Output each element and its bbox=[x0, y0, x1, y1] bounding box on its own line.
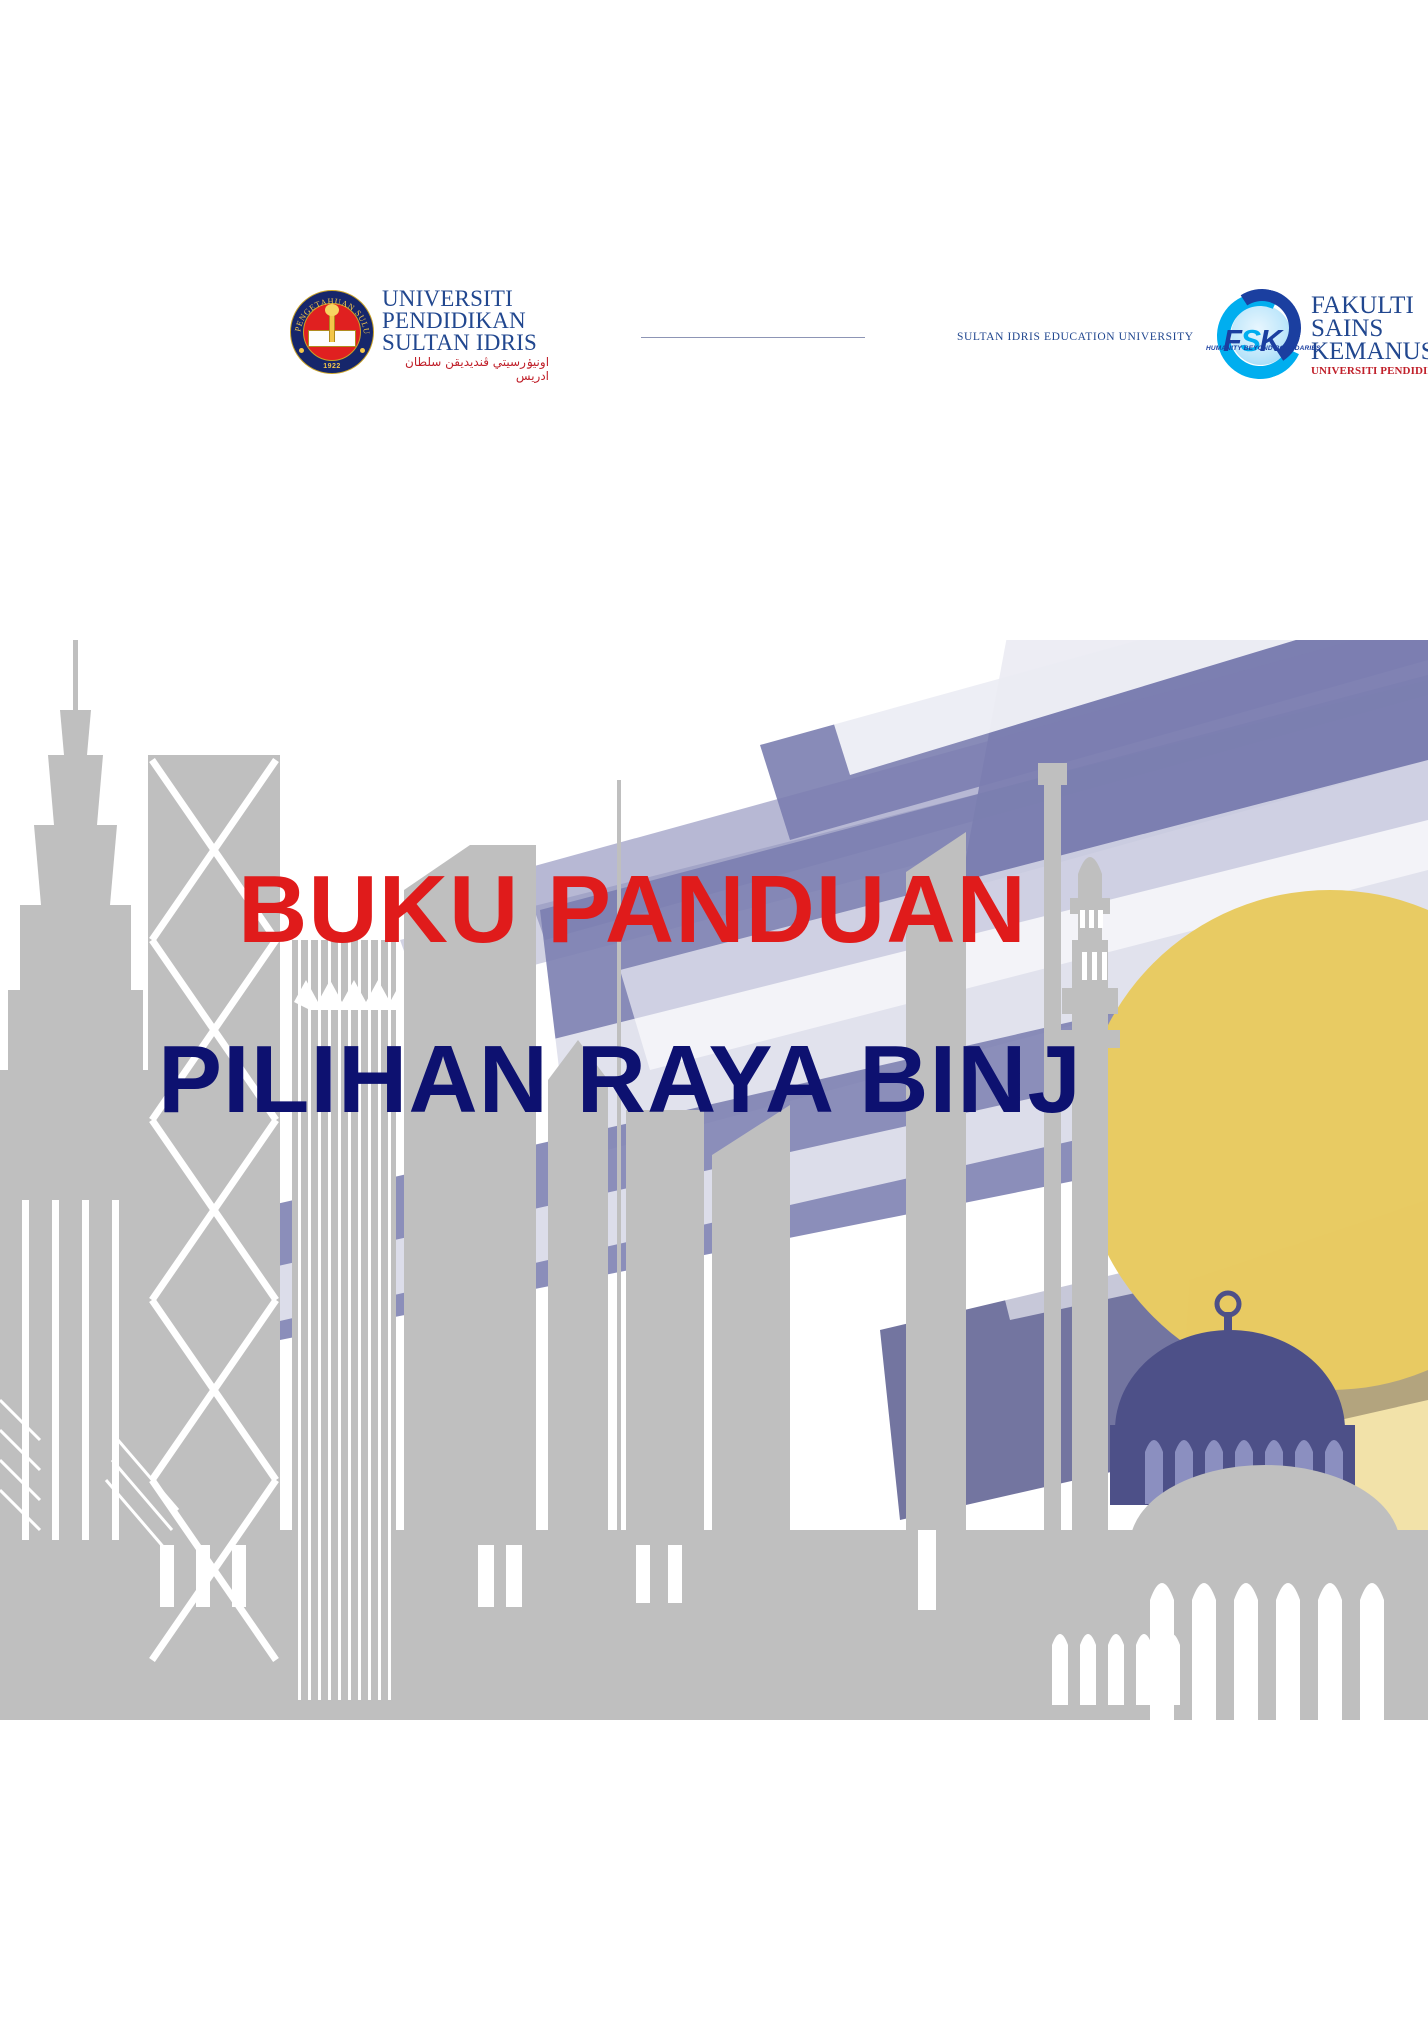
fsk-subtitle: UNIVERSITI PENDIDIKAN SULTAN IDRIS bbox=[1311, 365, 1428, 377]
upsi-logo: PENGETAHUAN SULUH BUDIMAN 1922 UNIVERSIT… bbox=[290, 276, 1193, 396]
fsk-line-1: FAKULTI bbox=[1311, 294, 1428, 317]
upsi-crest-year: 1922 bbox=[290, 363, 374, 370]
svg-text:PENGETAHUAN SULUH BUDIMAN: PENGETAHUAN SULUH BUDIMAN bbox=[290, 290, 371, 335]
upsi-crest-icon: PENGETAHUAN SULUH BUDIMAN 1922 bbox=[290, 290, 374, 374]
logo-bar: PENGETAHUAN SULUH BUDIMAN 1922 UNIVERSIT… bbox=[0, 268, 1428, 403]
cover-page: PENGETAHUAN SULUH BUDIMAN 1922 UNIVERSIT… bbox=[0, 0, 1428, 2018]
fsk-tagline: HUMANITY BEYOND BOUNDARIES bbox=[1206, 345, 1321, 352]
upsi-line-1: UNIVERSITI bbox=[382, 288, 549, 310]
upsi-line-2: PENDIDIKAN bbox=[382, 310, 549, 332]
upsi-line-3: SULTAN IDRIS bbox=[382, 332, 549, 354]
fsk-line-3: KEMANUSIAAN bbox=[1311, 340, 1428, 363]
cover-artwork bbox=[0, 640, 1428, 1720]
upsi-crest-motto: PENGETAHUAN SULUH BUDIMAN bbox=[290, 290, 371, 335]
fsk-swirl-icon: FSK HUMANITY BEYOND BOUNDARIES bbox=[1211, 287, 1309, 385]
upsi-divider bbox=[641, 337, 865, 338]
fsk-logo: FSK HUMANITY BEYOND BOUNDARIES FAKULTI S… bbox=[1211, 276, 1428, 396]
upsi-jawi-text: اونيۏرسيتي ڤنديديقن سلطان ادريس bbox=[382, 355, 549, 383]
fsk-initials: FSK bbox=[1223, 323, 1281, 359]
upsi-english-name: SULTAN IDRIS EDUCATION UNIVERSITY bbox=[957, 331, 1193, 343]
fsk-line-2: SAINS bbox=[1311, 317, 1428, 340]
